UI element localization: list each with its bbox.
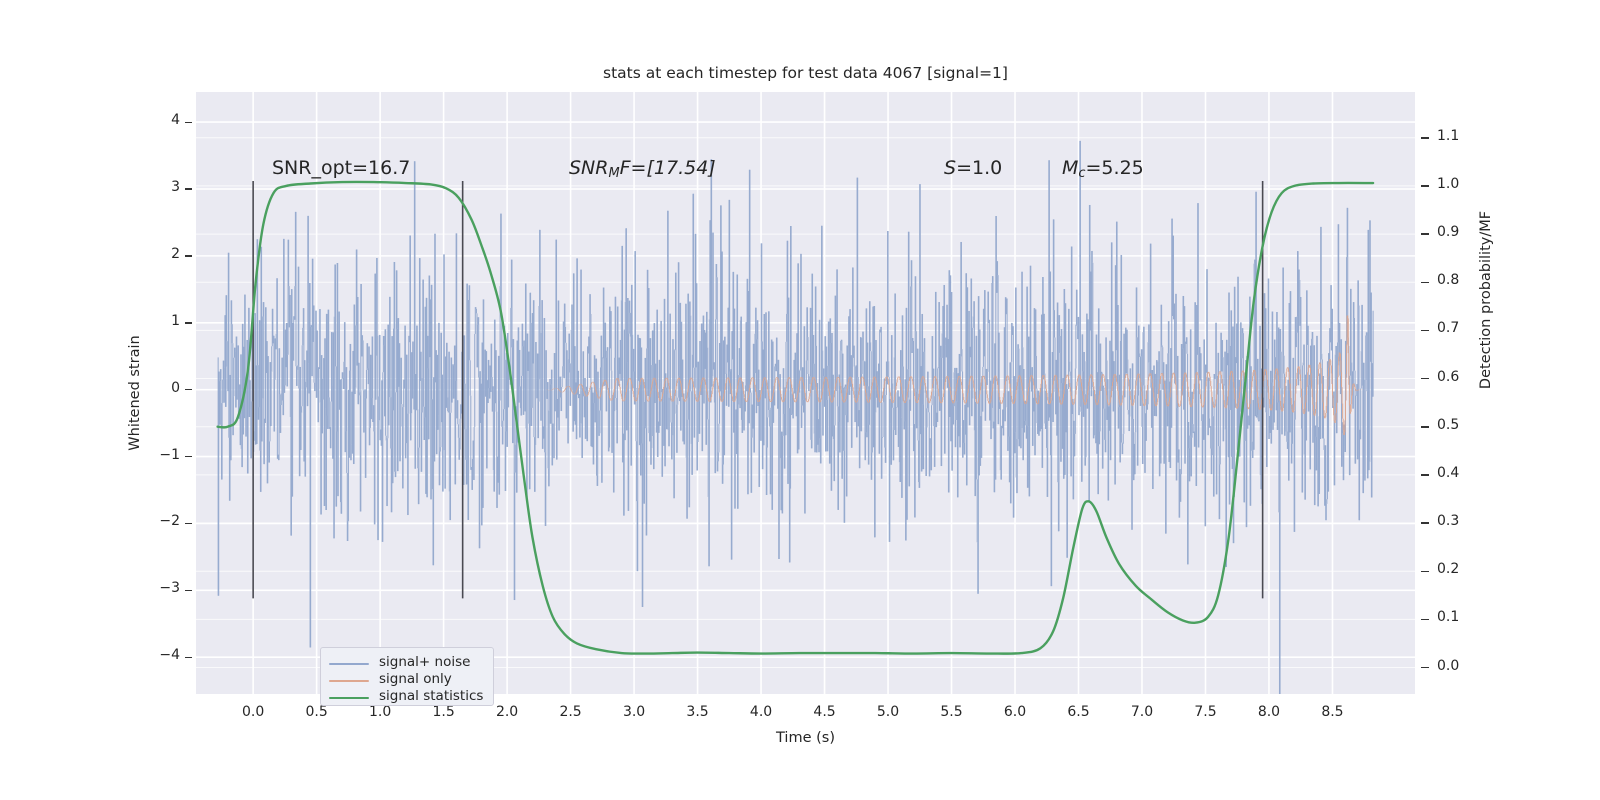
x-tick-7: 3.5 bbox=[668, 704, 728, 720]
y-tick-mark-left-0 bbox=[185, 122, 192, 123]
y-tick-left-6: −2 bbox=[140, 513, 180, 529]
x-tick-17: 8.5 bbox=[1302, 704, 1362, 720]
y-tick-mark-right-8 bbox=[1421, 522, 1429, 523]
y-tick-right-2: 0.9 bbox=[1437, 224, 1487, 240]
x-tick-5: 2.5 bbox=[541, 704, 601, 720]
legend-swatch-0 bbox=[329, 663, 369, 665]
plot-area bbox=[196, 92, 1415, 694]
x-tick-3: 1.5 bbox=[414, 704, 474, 720]
y-tick-mark-right-9 bbox=[1421, 571, 1429, 572]
y-tick-mark-right-3 bbox=[1421, 282, 1429, 283]
x-tick-15: 7.5 bbox=[1175, 704, 1235, 720]
y-tick-mark-left-5 bbox=[185, 456, 192, 457]
y-tick-right-7: 0.4 bbox=[1437, 465, 1487, 481]
legend-swatch-1 bbox=[329, 680, 369, 682]
y-tick-right-10: 0.1 bbox=[1437, 609, 1487, 625]
y-tick-left-2: 2 bbox=[140, 246, 180, 262]
x-tick-14: 7.0 bbox=[1112, 704, 1172, 720]
x-tick-12: 6.0 bbox=[985, 704, 1045, 720]
y-tick-right-6: 0.5 bbox=[1437, 417, 1487, 433]
legend-swatch-2 bbox=[329, 697, 369, 699]
x-tick-2: 1.0 bbox=[350, 704, 410, 720]
annotation-snr-mf: SNRMF=[17.54] bbox=[569, 157, 716, 181]
x-tick-1: 0.5 bbox=[287, 704, 347, 720]
y-tick-right-3: 0.8 bbox=[1437, 272, 1487, 288]
x-tick-8: 4.0 bbox=[731, 704, 791, 720]
y-tick-mark-right-1 bbox=[1421, 185, 1429, 186]
figure-canvas: stats at each timestep for test data 406… bbox=[0, 0, 1600, 800]
y-tick-mark-right-6 bbox=[1421, 426, 1429, 427]
y-tick-left-3: 1 bbox=[140, 313, 180, 329]
y-tick-right-9: 0.2 bbox=[1437, 561, 1487, 577]
x-axis-label: Time (s) bbox=[196, 730, 1415, 746]
y-tick-right-8: 0.3 bbox=[1437, 513, 1487, 529]
y-tick-left-5: −1 bbox=[140, 447, 180, 463]
x-tick-11: 5.5 bbox=[922, 704, 982, 720]
y-tick-mark-left-2 bbox=[185, 255, 192, 256]
page-title: stats at each timestep for test data 406… bbox=[196, 64, 1415, 82]
y-tick-mark-left-3 bbox=[185, 322, 192, 323]
y-tick-mark-left-6 bbox=[185, 523, 192, 524]
plot-svg bbox=[196, 92, 1415, 694]
legend-label-0: signal+ noise bbox=[379, 654, 470, 670]
y-tick-right-4: 0.7 bbox=[1437, 320, 1487, 336]
y-tick-right-0: 1.1 bbox=[1437, 128, 1487, 144]
legend: signal+ noisesignal onlysignal statistic… bbox=[320, 647, 494, 706]
x-tick-0: 0.0 bbox=[223, 704, 283, 720]
y-tick-mark-right-0 bbox=[1421, 137, 1429, 138]
legend-label-2: signal statistics bbox=[379, 688, 483, 704]
annotation-snr-opt: SNR_opt=16.7 bbox=[272, 157, 410, 179]
y-tick-mark-right-4 bbox=[1421, 330, 1429, 331]
y-tick-mark-left-4 bbox=[185, 389, 192, 390]
x-tick-4: 2.0 bbox=[477, 704, 537, 720]
x-tick-9: 4.5 bbox=[795, 704, 855, 720]
x-tick-6: 3.0 bbox=[604, 704, 664, 720]
y-tick-left-4: 0 bbox=[140, 380, 180, 396]
y-tick-mark-left-1 bbox=[185, 188, 192, 189]
y-tick-right-11: 0.0 bbox=[1437, 658, 1487, 674]
y-tick-right-1: 1.0 bbox=[1437, 176, 1487, 192]
y-tick-mark-right-2 bbox=[1421, 233, 1429, 234]
y-tick-left-1: 3 bbox=[140, 179, 180, 195]
annotation-chirp-mass: Mc=5.25 bbox=[1062, 157, 1144, 181]
y-tick-mark-right-5 bbox=[1421, 378, 1429, 379]
y-tick-mark-left-8 bbox=[185, 657, 192, 658]
series-signal-noise bbox=[218, 141, 1374, 694]
annotation-s-value: S=1.0 bbox=[944, 157, 1002, 179]
y-tick-left-7: −3 bbox=[140, 580, 180, 596]
x-tick-16: 8.0 bbox=[1239, 704, 1299, 720]
y-tick-mark-right-11 bbox=[1421, 667, 1429, 668]
y-tick-mark-right-10 bbox=[1421, 619, 1429, 620]
x-tick-13: 6.5 bbox=[1049, 704, 1109, 720]
y-tick-left-0: 4 bbox=[140, 112, 180, 128]
y-tick-right-5: 0.6 bbox=[1437, 369, 1487, 385]
legend-label-1: signal only bbox=[379, 671, 452, 687]
y-tick-mark-left-7 bbox=[185, 590, 192, 591]
y-tick-mark-right-7 bbox=[1421, 474, 1429, 475]
x-tick-10: 5.0 bbox=[858, 704, 918, 720]
y-tick-left-8: −4 bbox=[140, 647, 180, 663]
